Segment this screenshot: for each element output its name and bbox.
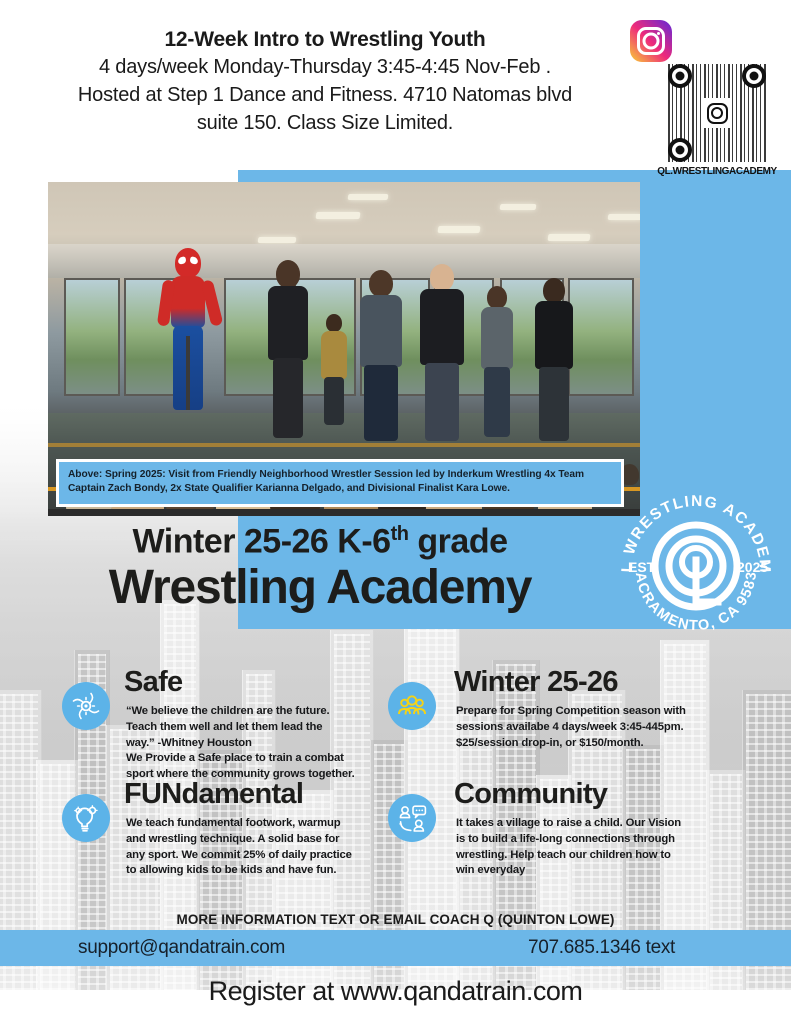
- athlete-figure: [266, 260, 310, 438]
- qr-eye-top-right: [742, 64, 766, 88]
- athlete-figure: [358, 270, 404, 440]
- window: [568, 278, 634, 396]
- mirror-band: [48, 244, 640, 278]
- ceiling-light: [316, 212, 361, 219]
- photo-caption-line-2: Captain Zach Bondy, 2x State Qualifier K…: [68, 482, 612, 496]
- header-line-1: 12-Week Intro to Wrestling Youth: [30, 26, 620, 53]
- header-line-4: suite 150. Class Size Limited.: [30, 109, 620, 137]
- feature-body: It takes a village to raise a child. Our…: [456, 816, 701, 879]
- ceiling-light: [548, 234, 591, 241]
- ceiling-light: [608, 214, 640, 220]
- feature-title: Community: [454, 780, 607, 809]
- lightbulb-gears-icon: [62, 794, 110, 842]
- ceiling-light: [500, 204, 537, 210]
- feature-title: FUNdamental: [124, 780, 303, 809]
- window: [64, 278, 120, 396]
- bystander-figure: [320, 314, 348, 424]
- feature-title: Safe: [124, 668, 182, 697]
- hands-gear-icon: [62, 682, 110, 730]
- header-line-3: Hosted at Step 1 Dance and Fitness. 4710…: [30, 81, 620, 109]
- photo-caption: Above: Spring 2025: Visit from Friendly …: [56, 459, 624, 507]
- register-line[interactable]: Register at www.qandatrain.com: [0, 976, 791, 1007]
- contact-bar: support@qandatrain.com 707.685.1346 text: [0, 930, 791, 966]
- spiderman-costume-figure: [166, 248, 212, 418]
- contact-phone[interactable]: 707.685.1346 text: [528, 937, 675, 959]
- hero-subtitle: Winter 25-26 K-6th grade: [0, 524, 640, 560]
- svg-text:EST.: EST.: [628, 559, 658, 575]
- ql-wrestling-academy-logo: QL WRESTLING ACADEMY SACRAMENTO, CA 9583…: [610, 490, 782, 640]
- instagram-icon[interactable]: [630, 20, 672, 62]
- athlete-figure: [418, 264, 466, 440]
- hero-main-title: Wrestling Academy: [0, 562, 640, 614]
- qr-center-instagram-icon: [702, 98, 732, 128]
- hero-subtitle-post: grade: [408, 522, 507, 560]
- header-line-2: 4 days/week Monday-Thursday 3:45-4:45 No…: [30, 53, 620, 81]
- people-group-icon: [388, 682, 436, 730]
- hero-subtitle-pre: Winter 25-26 K-6: [132, 522, 390, 560]
- ceiling-light: [438, 226, 481, 233]
- svg-text:2025: 2025: [737, 559, 768, 575]
- contact-email[interactable]: support@qandatrain.com: [78, 937, 285, 959]
- photo-caption-line-1: Above: Spring 2025: Visit from Friendly …: [68, 468, 612, 482]
- feature-body: Prepare for Spring Competition season wi…: [456, 704, 701, 751]
- features-section: Safe “We believe the children are the fu…: [0, 668, 791, 898]
- feature-body: We teach fundamental footwork, warmup an…: [126, 816, 356, 879]
- qr-code-icon[interactable]: [668, 64, 766, 162]
- ceiling-light: [348, 194, 389, 200]
- mat-line: [48, 443, 640, 447]
- qr-eye-top-left: [668, 64, 692, 88]
- footer-heading: MORE INFORMATION TEXT OR EMAIL COACH Q (…: [0, 912, 791, 927]
- instagram-handle: QL.WRESTLINGACADEMY: [652, 166, 782, 177]
- ceiling-light: [258, 237, 297, 243]
- hero-subtitle-ordinal: th: [391, 523, 409, 545]
- hero-title-block: Winter 25-26 K-6th grade Wrestling Acade…: [0, 524, 640, 614]
- athlete-figure: [534, 278, 574, 440]
- people-chat-icon: [388, 794, 436, 842]
- feature-title: Winter 25-26: [454, 668, 618, 697]
- athlete-figure: [480, 286, 514, 436]
- flyer-page: 12-Week Intro to Wrestling Youth 4 days/…: [0, 0, 791, 1024]
- feature-body: “We believe the children are the future.…: [126, 704, 356, 783]
- header-text-block: 12-Week Intro to Wrestling Youth 4 days/…: [30, 26, 620, 137]
- qr-eye-bottom-left: [668, 138, 692, 162]
